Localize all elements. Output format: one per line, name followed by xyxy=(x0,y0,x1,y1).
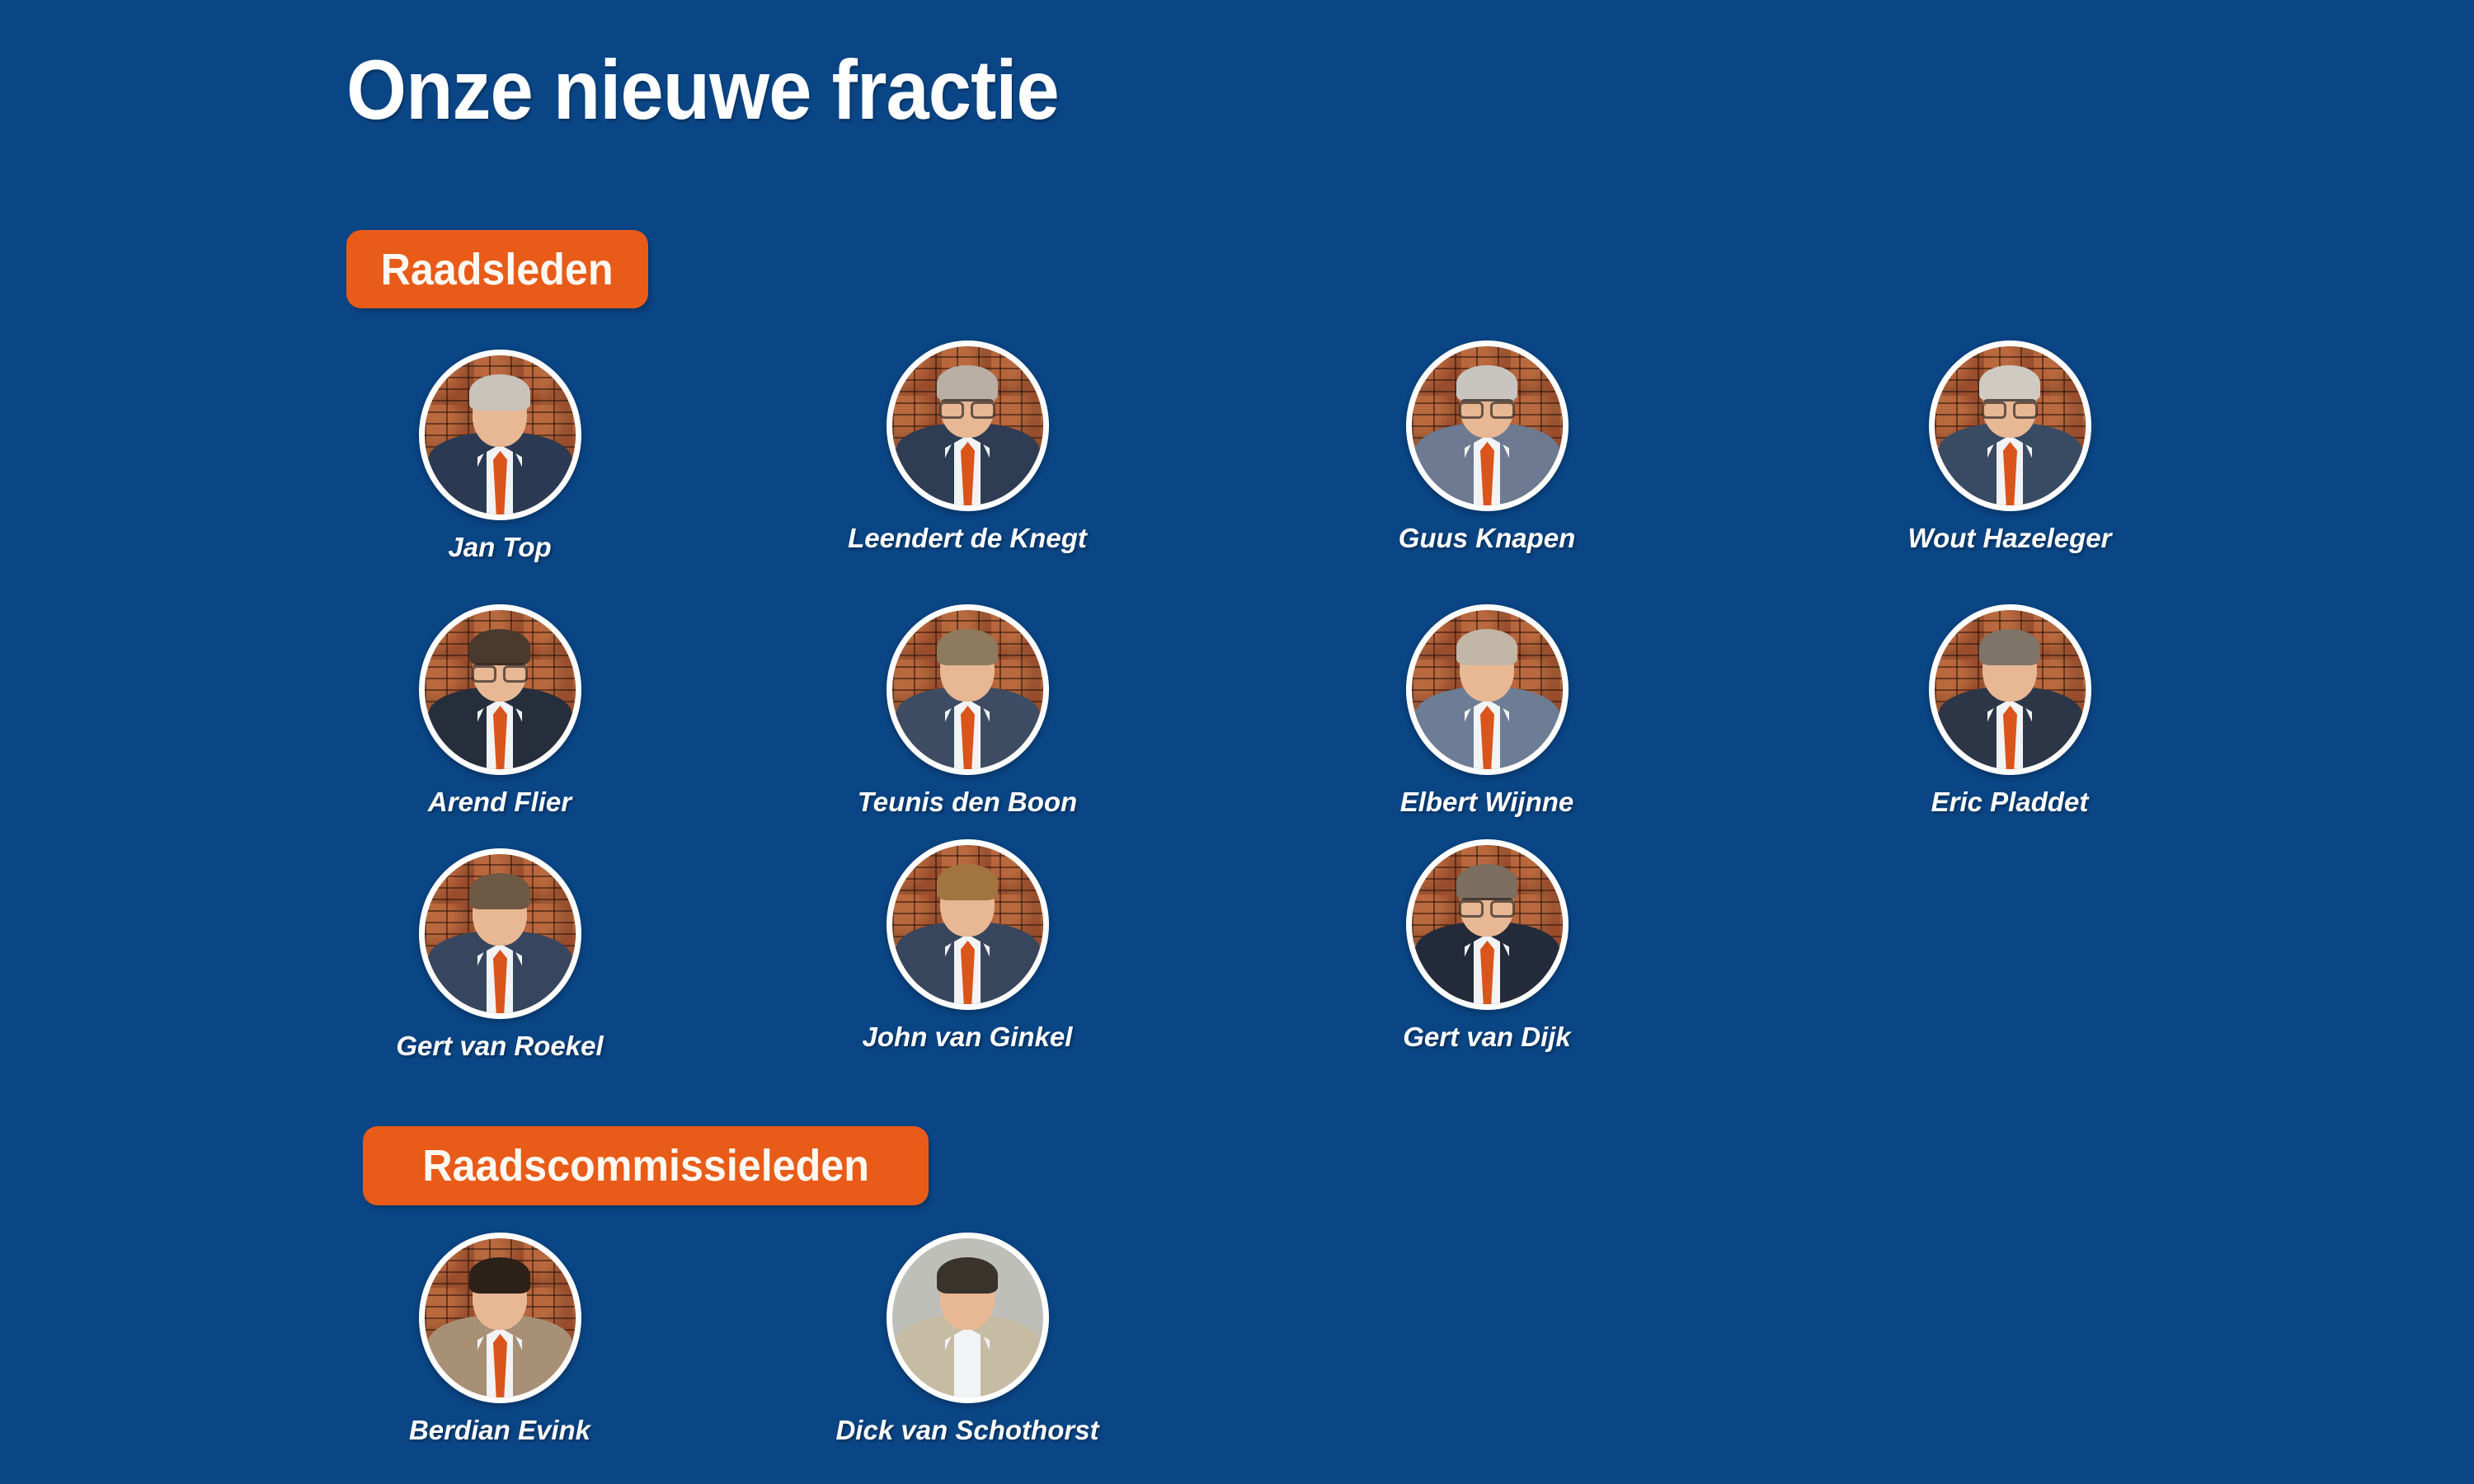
glasses-icon xyxy=(940,399,995,411)
portrait-photo xyxy=(1935,346,2086,505)
portrait-hair xyxy=(937,365,998,402)
avatar xyxy=(1929,340,2091,511)
portrait-photo xyxy=(425,854,576,1013)
member-card[interactable]: Gert van Roekel xyxy=(376,848,623,1062)
avatar xyxy=(887,340,1049,511)
portrait-photo xyxy=(892,1238,1043,1397)
member-card[interactable]: John van Ginkel xyxy=(844,839,1091,1053)
member-card[interactable]: Berdian Evink xyxy=(376,1233,623,1446)
member-card[interactable]: Dick van Schothorst xyxy=(844,1233,1091,1446)
portrait-hair xyxy=(469,1257,530,1294)
member-name: Eric Pladdet xyxy=(1931,787,2089,818)
portrait-hair xyxy=(1456,365,1517,402)
member-name: Teunis den Boon xyxy=(858,787,1077,818)
portrait-hair xyxy=(469,873,530,909)
section-badge-raadsleden: Raadsleden xyxy=(346,230,648,308)
member-name: John van Ginkel xyxy=(863,1021,1073,1053)
member-card[interactable]: Arend Flier xyxy=(376,604,623,818)
portrait-photo xyxy=(1412,610,1563,769)
portrait-hair xyxy=(469,629,530,665)
glasses-icon xyxy=(1460,898,1514,910)
avatar xyxy=(419,604,581,775)
portrait-photo xyxy=(1412,845,1563,1004)
member-name: Gert van Dijk xyxy=(1403,1021,1571,1053)
portrait-photo xyxy=(425,610,576,769)
member-name: Arend Flier xyxy=(428,787,571,818)
member-card[interactable]: Jan Top xyxy=(376,350,623,563)
member-name: Gert van Roekel xyxy=(396,1031,603,1062)
member-card[interactable]: Gert van Dijk xyxy=(1363,839,1611,1053)
member-card[interactable]: Guus Knapen xyxy=(1363,340,1611,554)
glasses-icon xyxy=(1460,399,1514,411)
member-name: Leendert de Knegt xyxy=(848,523,1087,554)
portrait-hair xyxy=(469,374,530,411)
glasses-icon xyxy=(473,663,527,675)
section-badge-raadscommissieleden-label: Raadscommissieleden xyxy=(422,1140,869,1191)
portrait-hair xyxy=(1456,864,1517,900)
avatar xyxy=(419,350,581,520)
portrait-hair xyxy=(1456,629,1517,665)
member-card[interactable]: Teunis den Boon xyxy=(844,604,1091,818)
avatar xyxy=(419,848,581,1019)
member-name: Guus Knapen xyxy=(1399,523,1576,554)
portrait-photo xyxy=(1935,610,2086,769)
avatar xyxy=(887,1233,1049,1403)
portrait-hair xyxy=(1979,629,2040,665)
avatar xyxy=(1406,340,1569,511)
portrait-hair xyxy=(937,1257,998,1294)
portrait-photo xyxy=(892,845,1043,1004)
section-badge-raadscommissieleden: Raadscommissieleden xyxy=(363,1126,929,1205)
avatar xyxy=(1406,604,1569,775)
portrait-hair xyxy=(937,629,998,665)
portrait-hair xyxy=(1979,365,2040,402)
member-card[interactable]: Eric Pladdet xyxy=(1886,604,2133,818)
avatar xyxy=(887,604,1049,775)
avatar xyxy=(1929,604,2091,775)
glasses-icon xyxy=(1982,399,2037,411)
portrait-photo xyxy=(1412,346,1563,505)
portrait-photo xyxy=(892,346,1043,505)
avatar xyxy=(1406,839,1569,1010)
member-name: Dick van Schothorst xyxy=(835,1415,1098,1446)
section-badge-raadsleden-label: Raadsleden xyxy=(381,244,614,295)
avatar xyxy=(887,839,1049,1010)
member-card[interactable]: Leendert de Knegt xyxy=(844,340,1091,554)
member-name: Wout Hazeleger xyxy=(1908,523,2112,554)
avatar xyxy=(419,1233,581,1403)
member-name: Berdian Evink xyxy=(409,1415,590,1446)
portrait-hair xyxy=(937,864,998,900)
portrait-photo xyxy=(425,355,576,514)
page-title: Onze nieuwe fractie xyxy=(346,48,1059,132)
member-card[interactable]: Elbert Wijnne xyxy=(1363,604,1611,818)
member-name: Elbert Wijnne xyxy=(1400,787,1574,818)
member-name: Jan Top xyxy=(448,532,551,563)
portrait-photo xyxy=(425,1238,576,1397)
fraction-poster: Onze nieuwe fractie Raadsleden Raadscomm… xyxy=(0,0,2474,1484)
member-card[interactable]: Wout Hazeleger xyxy=(1886,340,2133,554)
portrait-photo xyxy=(892,610,1043,769)
